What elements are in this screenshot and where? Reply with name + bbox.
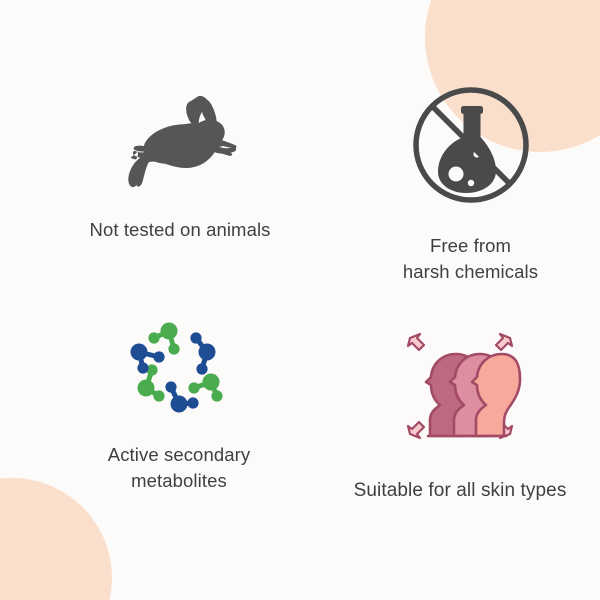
molecule-icon xyxy=(123,316,235,420)
decorative-blob-bottom-left xyxy=(0,478,112,600)
feature-no-chemicals: Free from harsh chemicals xyxy=(348,82,593,284)
feature-metabolites: Active secondary metabolites xyxy=(58,316,300,493)
benefits-graphic: Not tested on animals xyxy=(0,0,600,600)
feature-caption-cruelty-free: Not tested on animals xyxy=(89,217,270,243)
three-heads-icon xyxy=(390,316,530,456)
feature-caption-metabolites: Active secondary metabolites xyxy=(108,442,250,493)
feature-caption-no-chemicals: Free from harsh chemicals xyxy=(403,233,538,284)
feature-caption-skin-types: Suitable for all skin types xyxy=(354,478,567,504)
no-chemicals-flask-icon xyxy=(408,82,534,208)
rabbit-icon xyxy=(120,96,240,191)
feature-skin-types: Suitable for all skin types xyxy=(330,316,590,504)
feature-cruelty-free: Not tested on animals xyxy=(50,96,310,243)
